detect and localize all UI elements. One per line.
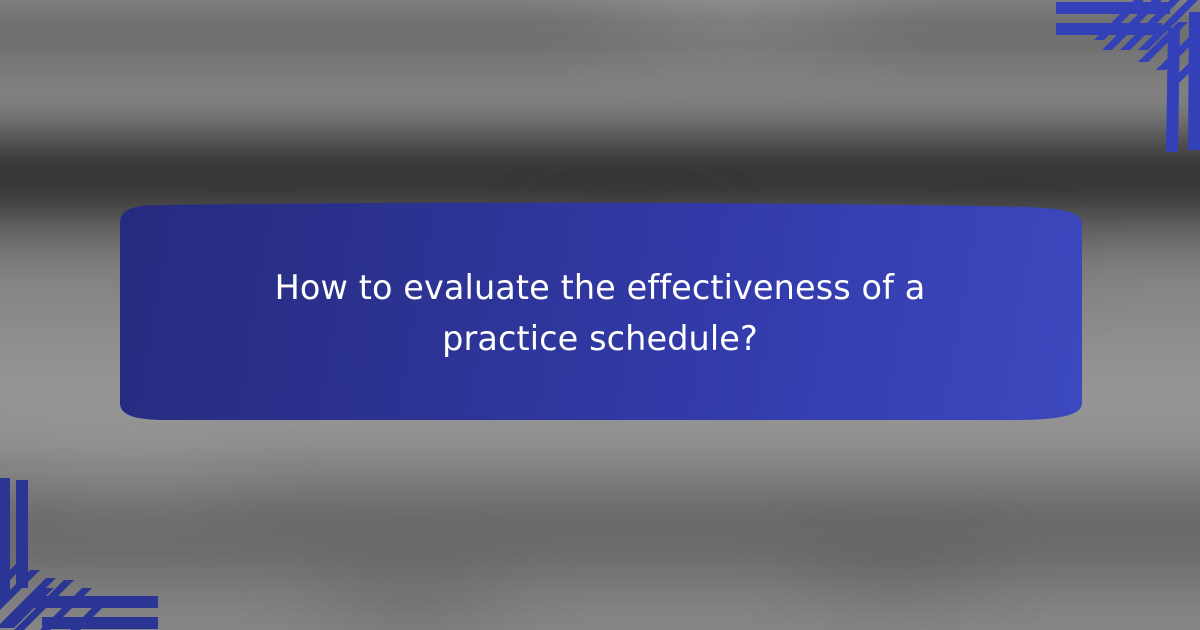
corner-bracket-top-right bbox=[1030, 0, 1200, 160]
question-card-body: How to evaluate the effectiveness of a p… bbox=[160, 202, 1040, 424]
corner-bracket-bottom-left bbox=[0, 470, 170, 630]
corner-bracket-top-right-icon bbox=[1030, 0, 1200, 160]
screenshot-canvas: How to evaluate the effectiveness of a p… bbox=[0, 0, 1200, 630]
corner-bracket-bottom-left-icon bbox=[0, 470, 170, 630]
question-title: How to evaluate the effectiveness of a p… bbox=[270, 262, 930, 364]
question-card: How to evaluate the effectiveness of a p… bbox=[100, 202, 1100, 424]
